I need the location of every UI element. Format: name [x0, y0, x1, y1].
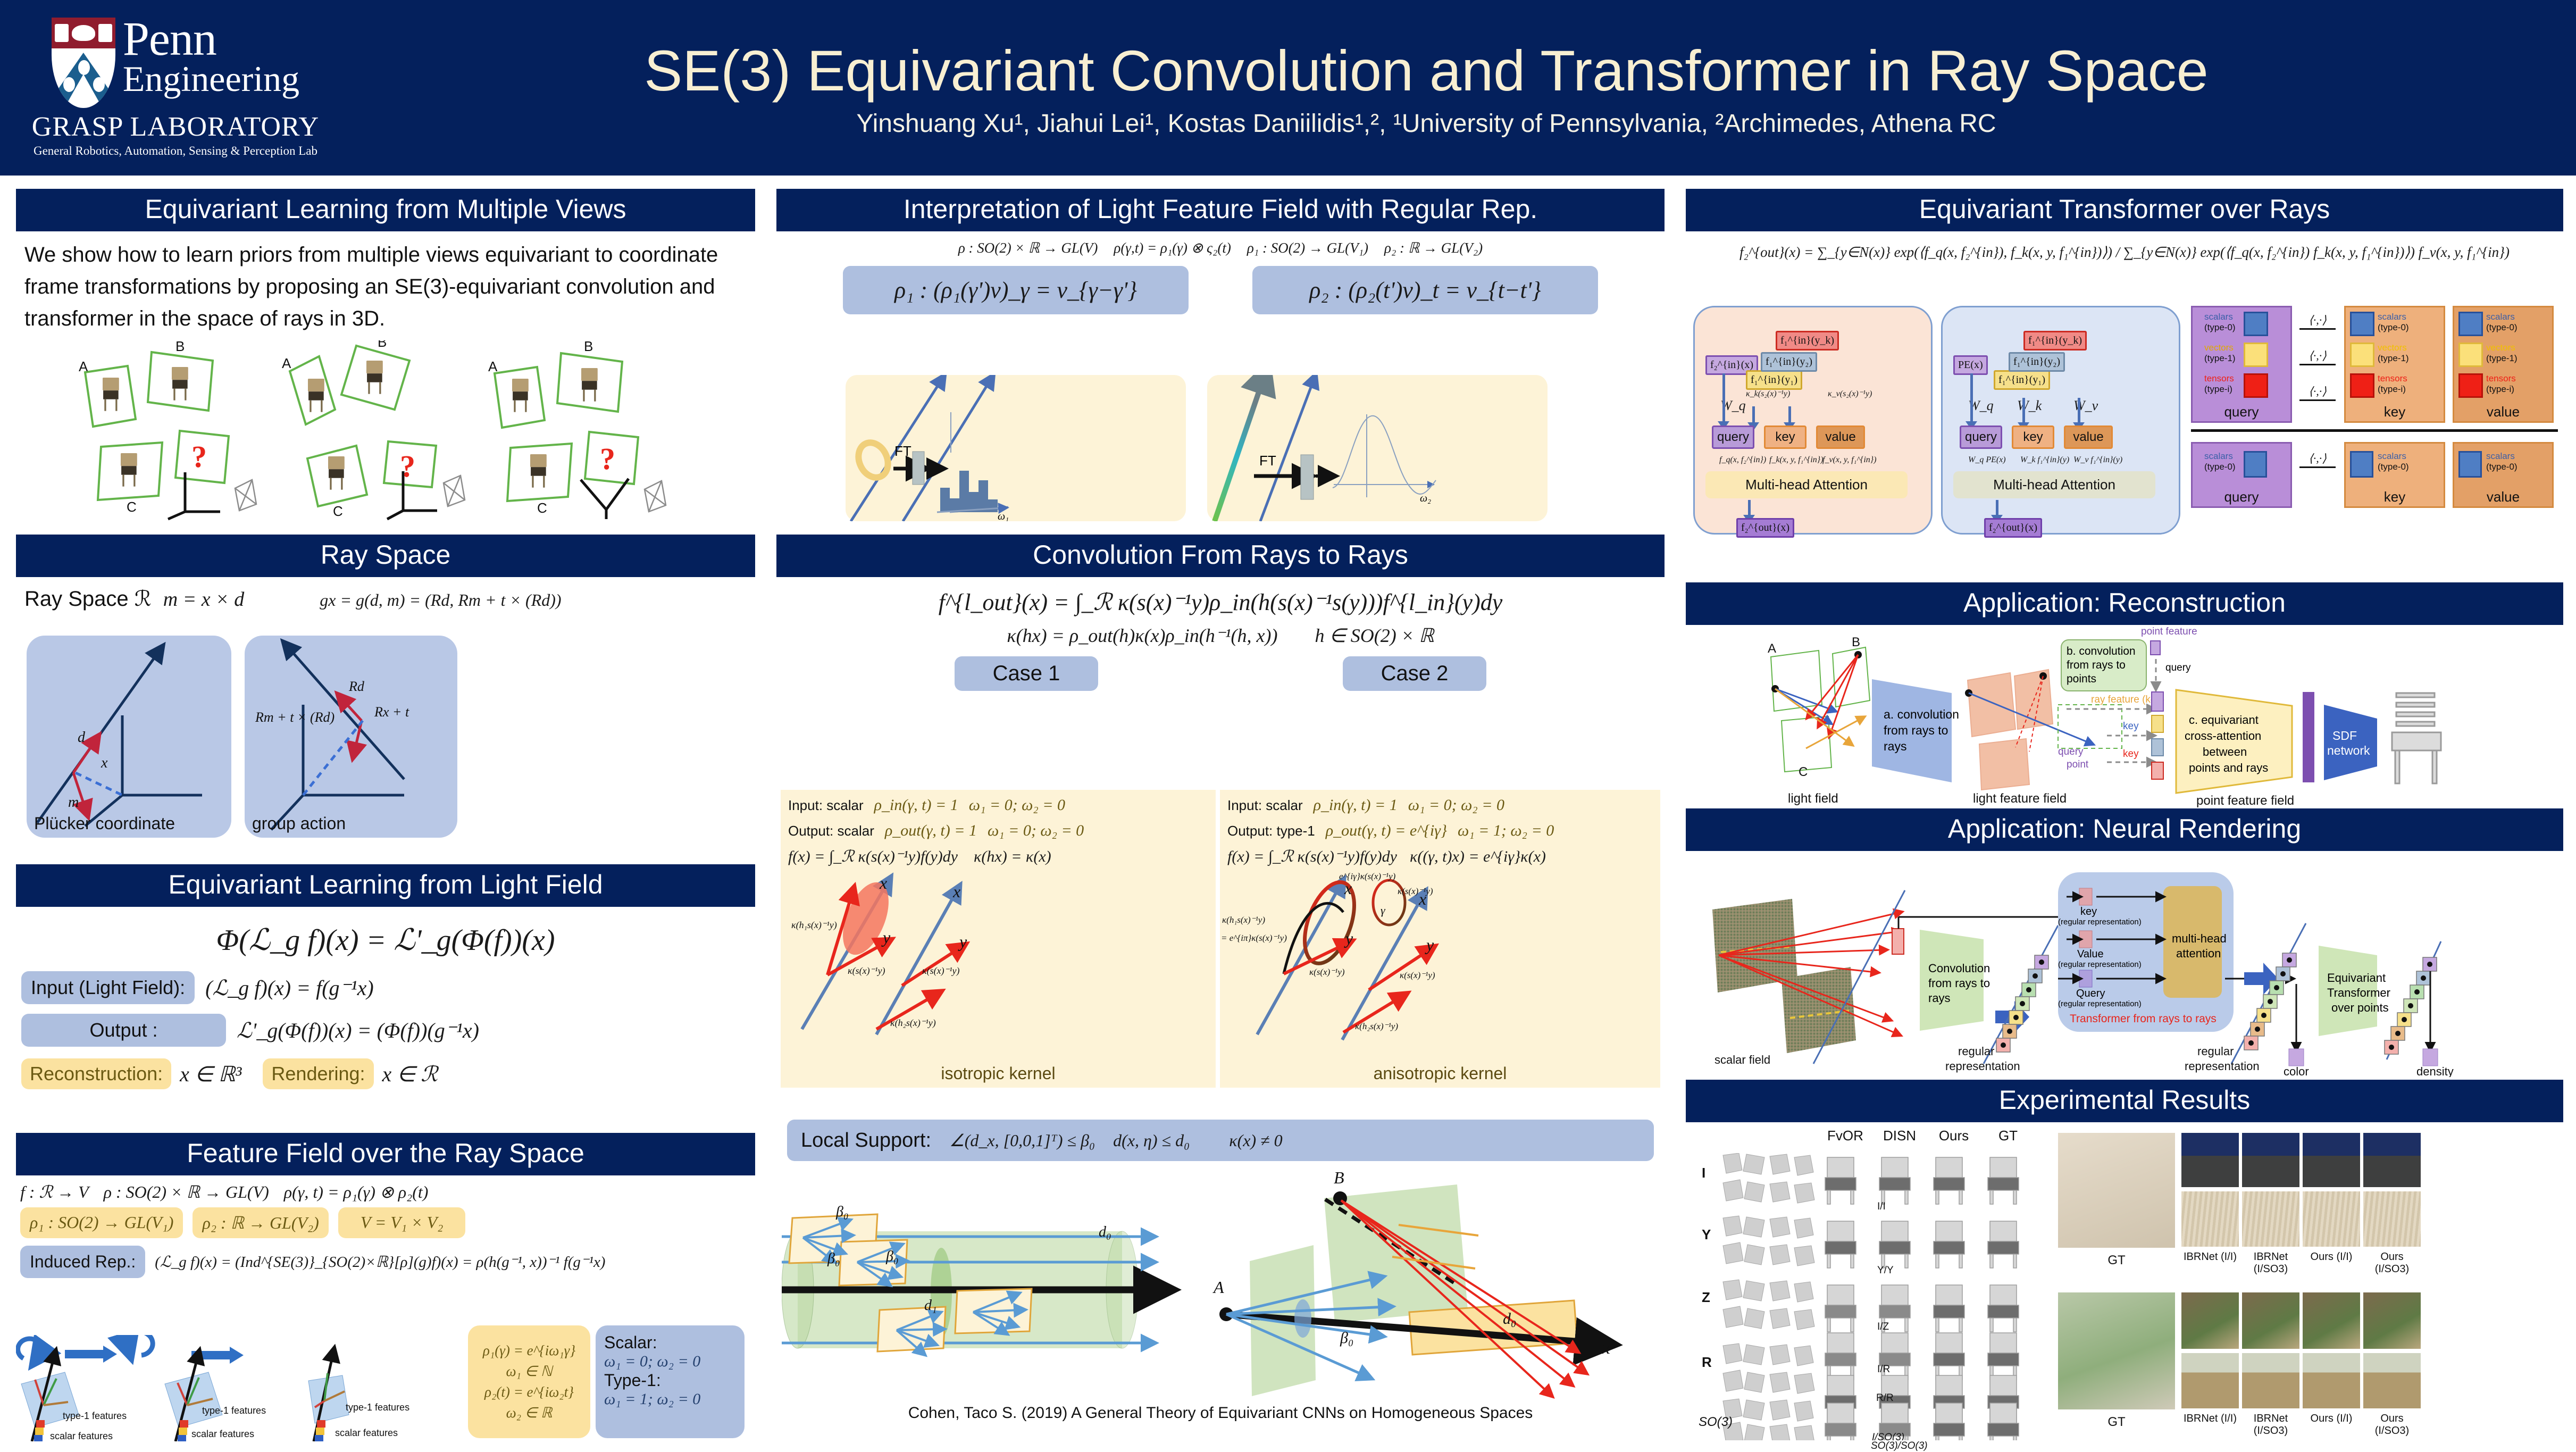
rendering-figure: Convolution from rays to rays multi-head…	[1686, 851, 2563, 1077]
panel-convolution-title: Convolution From Rays to Rays	[776, 535, 1665, 577]
render-gt-image	[2058, 1292, 2175, 1409]
interp-rho1-box: ρ₁ : (ρ₁(γ')v)_γ = v_{γ−γ'}	[843, 266, 1189, 314]
panel-experiments-title: Experimental Results	[1686, 1080, 2563, 1122]
panel-feature-field: Feature Field over the Ray Space f : ℛ →…	[16, 1133, 755, 1439]
type-panel-query: scalars (type-0) vectors (type-1) tensor…	[2191, 306, 2292, 423]
svg-text:(regular representation): (regular representation)	[2058, 999, 2142, 1008]
label-d0: d₀	[1503, 1310, 1516, 1328]
multi-head-attention: Multi-head Attention	[1705, 471, 1908, 498]
type-panel-value: scalars (type-0) vectors (type-1) tensor…	[2453, 306, 2554, 423]
svg-text:from rays to: from rays to	[2067, 659, 2126, 671]
svg-text:attention: attention	[2176, 947, 2221, 960]
type-panel-key: scalars (type-0) vectors (type-1) tensor…	[2344, 306, 2445, 423]
row-header-Y: Y	[1702, 1226, 1711, 1243]
case1-eq2: κ(hx) = κ(x)	[974, 848, 1051, 866]
light-field-rendering-label: Rendering:	[263, 1058, 373, 1089]
label-y: y	[1344, 929, 1353, 948]
label-scalar-features: scalar features	[50, 1431, 113, 1441]
type-col-query: query	[2193, 489, 2290, 505]
swatch-vectors	[2244, 343, 2268, 367]
case1-input-label: Input: scalar	[788, 797, 864, 814]
caption-density: density	[2416, 1065, 2454, 1077]
row-type-scalars: (type-0)	[2486, 462, 2518, 472]
node-f1-in-y2: f₁^{in}(y₂)	[2009, 352, 2065, 372]
rep-omega2: ω₂ ∈ ℝ	[506, 1405, 553, 1421]
type-panel-query: scalars (type-0) query	[2191, 442, 2292, 508]
panel-light-field: Equivariant Learning from Light Field Φ(…	[16, 864, 755, 1109]
label-scalar-features: scalar features	[191, 1429, 254, 1439]
type-panels-divider	[2191, 429, 2558, 432]
type-col-value: value	[2454, 404, 2552, 420]
plucker-coordinate-figure: d x m Plücker coordinate	[27, 636, 231, 838]
case2-input-rho: ρ_in(γ, t) = 1	[1314, 796, 1398, 814]
type-type1-values: ω₁ = 1; ω₂ = 0	[604, 1390, 736, 1408]
case2-output-rho: ρ_out(γ, t) = e^{iγ}	[1326, 822, 1447, 840]
row-type-scalars: (type-0)	[2378, 462, 2409, 472]
render-thumb	[2303, 1292, 2360, 1349]
logo-penn-text: Penn	[123, 18, 299, 62]
transformer-box-label: Transformer from rays to rays	[2070, 1013, 2217, 1025]
ray-space-moment-formula: m = x × d	[163, 588, 245, 611]
token-value-label: Value	[2077, 948, 2104, 960]
render-gt-label: GT	[2058, 1253, 2175, 1268]
type-col-value: value	[2454, 489, 2552, 505]
light-field-output-label: Output :	[21, 1014, 226, 1047]
label-k-s: κ(s(x)⁻¹y)	[922, 965, 960, 977]
label-type1-features: type-1 features	[202, 1405, 266, 1416]
label-eipi-k: = e^{iπ}κ(s(x)⁻¹y)	[1221, 933, 1287, 943]
type-panel-value: scalars (type-0) value	[2453, 442, 2554, 508]
transformer-formula: f₂^{out}(x) = ∑_{y∈N(x)} exp(⟨f_q(x, f₂^…	[1686, 231, 2563, 262]
ft-label: FT	[1259, 453, 1276, 469]
render-thumb	[2303, 1133, 2360, 1187]
row-tag-I-SO3: I/SO(3)	[1872, 1432, 1904, 1440]
label-k-s: κ(s(x)⁻¹y)	[848, 965, 885, 977]
panel-multiple-views-title: Equivariant Learning from Multiple Views	[16, 189, 755, 231]
render-gt-label: GT	[2058, 1415, 2175, 1430]
swatch-scalars	[2244, 451, 2267, 478]
logo-grasp-subtitle: General Robotics, Automation, Sensing & …	[34, 144, 317, 158]
render-thumb	[2242, 1133, 2299, 1187]
svg-text:network: network	[2327, 744, 2370, 757]
feature-field-formula-0: f : ℛ → V	[20, 1182, 89, 1202]
scene-label-A: A	[1768, 641, 1776, 656]
row-label-scalars: scalars	[2378, 451, 2406, 462]
node-f1-in-y2: f₁^{in}(y₂)	[1761, 352, 1817, 372]
poster-title: SE(3) Equivariant Convolution and Transf…	[351, 37, 2502, 104]
render-thumb	[2181, 1191, 2239, 1247]
label-kappa-k: κ_k(s₂(x)⁻¹y)	[1746, 388, 1790, 399]
conv-case2-box: Input: scalar ρ_in(γ, t) = 1 ω₁ = 0; ω₂ …	[1220, 790, 1660, 1088]
label-k-h2: κ(h₂s(x)⁻¹y)	[1355, 1021, 1398, 1031]
label-key: key	[2123, 721, 2139, 732]
render-col-label: IBRNet (I/I)	[2181, 1413, 2239, 1437]
edge-fv: f_v(x, y, f₁^{in})	[1822, 455, 1877, 465]
row-tag-I-R: I/R	[1877, 1364, 1890, 1375]
panel-experiments: Experimental Results FvOR DISN Ours GT I…	[1686, 1080, 2563, 1441]
view-label-b: B	[175, 340, 185, 354]
label-x: x	[1160, 1279, 1169, 1300]
panel-ray-space: Ray Space Ray Space ℛ m = x × d gx = g(d…	[16, 535, 755, 843]
view-unknown-marker: ?	[191, 439, 207, 474]
label-k-s: κ(s(x)⁻¹y)	[1309, 967, 1345, 977]
label-k-h1: κ(h₁s(x)⁻¹y)	[1222, 915, 1265, 925]
edge-wq-pe: W_q PE(x)	[1968, 455, 2006, 465]
label-d0: d₀	[1099, 1224, 1111, 1240]
svg-text:(regular representation): (regular representation)	[2058, 917, 2142, 927]
swatch-scalars	[2458, 451, 2482, 478]
label-x: x	[952, 882, 960, 901]
poster-authors: Yinshuang Xu¹, Jiahui Lei¹, Kostas Danii…	[351, 109, 2502, 138]
qkv-key: key	[1764, 425, 1806, 449]
svg-text:representation: representation	[1945, 1059, 2020, 1073]
row-label-scalars: scalars	[2204, 312, 2233, 322]
interp-rho2-box: ρ₂ : (ρ₂(t')v)_t = v_{t−t'}	[1252, 266, 1598, 314]
case1-output-rho: ρ_out(γ, t) = 1	[885, 822, 977, 840]
label-kappa-v: κ_v(s₂(x)⁻¹y)	[1828, 388, 1872, 399]
col-header-ours: Ours	[1933, 1128, 1975, 1144]
view-label-c: C	[127, 499, 137, 515]
case2-eq1: f(x) = ∫_ℛ κ(s(x)⁻¹y)f(y)dy	[1227, 847, 1397, 866]
panel-interpretation-title: Interpretation of Light Feature Field wi…	[776, 189, 1665, 231]
label-type1-features: type-1 features	[346, 1402, 409, 1413]
row-tag-I-Z: I/Z	[1877, 1321, 1889, 1332]
swatch-tensors	[2244, 373, 2268, 398]
render-thumb	[2242, 1292, 2299, 1349]
rep-omega1: ω₁ ∈ ℕ	[506, 1363, 552, 1380]
sdf-label: SDF	[2332, 729, 2357, 742]
render-thumb	[2242, 1353, 2299, 1408]
view-label-c: C	[537, 500, 547, 516]
col-header-disn: DISN	[1878, 1128, 1921, 1144]
stage-b-label: b. convolution	[2067, 645, 2136, 657]
edge-fk: f_k(x, y, f₁^{in})	[1769, 455, 1824, 465]
render-col-label: Ours (I/I)	[2303, 1251, 2360, 1275]
rendering-conv-label: Convolution	[1928, 962, 1990, 975]
node-f2-out: f₂^{out}(x)	[1984, 518, 2042, 538]
label-k-s: κ(s(x)⁻¹y)	[1398, 886, 1433, 896]
label-key: key	[2123, 748, 2139, 760]
row-label-vectors: vectors	[2486, 343, 2515, 353]
view-unknown-marker: ?	[600, 441, 615, 476]
label-point: point	[2067, 759, 2089, 770]
qkv-query: query	[1960, 425, 2002, 449]
feature-field-figure: type-1 features scalar features type-1 f…	[16, 1335, 463, 1441]
caption-point-feature-field: point feature field	[2196, 794, 2294, 808]
svg-text:points: points	[2067, 673, 2096, 685]
rendering-equiv-transformer-label: Equivariant	[2327, 971, 2386, 984]
row-header-SO3: SO(3)	[1699, 1415, 1733, 1430]
panel-transformer: Equivariant Transformer over Rays f₂^{ou…	[1686, 189, 2563, 543]
case1-input-omega: ω₁ = 0; ω₂ = 0	[969, 796, 1065, 814]
light-field-reconstruction-label: Reconstruction:	[21, 1058, 171, 1089]
local-support-label: Local Support:	[801, 1129, 931, 1152]
case1-output-omega: ω₁ = 0; ω₂ = 0	[988, 822, 1084, 840]
row-label-vectors: vectors	[2378, 343, 2407, 353]
row-type-scalars: (type-0)	[2378, 322, 2409, 333]
row-header-I: I	[1702, 1165, 1705, 1181]
light-field-rendering-formula: x ∈ ℛ	[382, 1062, 438, 1087]
label-d: d	[78, 729, 86, 746]
caption-scalar-field: scalar field	[1714, 1053, 1770, 1066]
edge-wv-f1: W_v f₁^{in}(y)	[2073, 455, 2122, 465]
panel-rendering: Application: Neural Rendering	[1686, 808, 2563, 1074]
row-header-Z: Z	[1702, 1289, 1710, 1306]
swatch-tensors	[2458, 373, 2483, 398]
light-field-output-formula: ℒ'_g(Φ(f))(x) = (Φ(f))(g⁻¹x)	[237, 1018, 479, 1043]
label-beta0: β₀	[1340, 1329, 1353, 1347]
label-x: x	[1344, 879, 1352, 898]
panel-feature-field-title: Feature Field over the Ray Space	[16, 1133, 755, 1175]
svg-text:between: between	[2203, 745, 2247, 758]
label-y: y	[1425, 935, 1434, 954]
row-label-scalars: scalars	[2204, 451, 2233, 462]
qkv-value: value	[1816, 425, 1865, 449]
row-label-scalars: scalars	[2378, 312, 2406, 322]
scene-label-C: C	[1799, 765, 1808, 779]
swatch-scalars	[2350, 451, 2373, 478]
label-beta0: β₀	[827, 1250, 840, 1267]
row-type-tensors: (type-i)	[2204, 384, 2232, 395]
render-col-label: IBRNet (I/I)	[2181, 1251, 2239, 1275]
render-thumb	[2363, 1191, 2421, 1247]
label-gamma: γ	[1381, 904, 1386, 917]
case2-output-omega: ω₁ = 1; ω₂ = 0	[1458, 822, 1554, 840]
panel-convolution: Convolution From Rays to Rays f^{l_out}(…	[776, 535, 1665, 1106]
local-support-cond2: d(x, η) ≤ d₀	[1113, 1131, 1190, 1150]
label-x: x	[1601, 1337, 1610, 1358]
svg-text:representation: representation	[2185, 1059, 2260, 1073]
view-label-c: C	[333, 503, 343, 519]
node-f1-in-y1: f₁^{in}(y₁)	[1746, 370, 1802, 390]
panel-reconstruction: Application: Reconstruction a. convoluti…	[1686, 582, 2563, 806]
col-header-gt: GT	[1987, 1128, 2029, 1144]
feature-field-formula-1: ρ : SO(2) × ℝ → GL(V)	[104, 1182, 269, 1202]
token-query-label: Query	[2076, 988, 2105, 999]
type-panels-full: scalars (type-0) vectors (type-1) tensor…	[2191, 306, 2558, 423]
type-panel-key: scalars (type-0) key	[2344, 442, 2445, 508]
ray-space-group-formula: gx = g(d, m) = (Rd, Rm + t × (Rd))	[320, 590, 561, 610]
conv-kernel-formula: κ(hx) = ρ_out(h)κ(x)ρ_in(h⁻¹(h, x))	[1007, 624, 1277, 647]
case2-eq2: κ((γ, t)x) = e^{iγ}κ(x)	[1410, 848, 1546, 866]
render-thumb	[2363, 1292, 2421, 1349]
render-col-label: IBRNet (I/SO3)	[2242, 1413, 2299, 1437]
panel-transformer-title: Equivariant Transformer over Rays	[1686, 189, 2563, 231]
feature-field-formula-2: ρ(γ, t) = ρ₁(γ) ⊗ ρ₂(t)	[284, 1182, 429, 1202]
label-query: query	[2058, 746, 2084, 757]
view-label-b: B	[378, 340, 387, 350]
local-support-cond1: ∠(d_x, [0,0,1]ᵀ) ≤ β₀	[949, 1130, 1095, 1150]
svg-text:Transformer: Transformer	[2327, 986, 2390, 999]
label-point-feature: point feature	[2141, 626, 2197, 637]
swatch-tensors	[2350, 373, 2374, 398]
edge-wk-f1: W_k f₁^{in}(y)	[2020, 455, 2069, 465]
swatch-scalars	[2350, 312, 2374, 336]
node-f1-in-yk: f₁^{in}(y_k)	[1776, 331, 1839, 351]
light-field-main-formula: Φ(ℒ_g f)(x) = ℒ'_g(Φ(f))(x)	[16, 907, 755, 957]
row-type-vectors: (type-1)	[2204, 353, 2236, 364]
row-type-tensors: (type-i)	[2486, 384, 2514, 395]
svg-text:from rays to: from rays to	[1884, 723, 1948, 737]
logo-grasp-text: GRASP LABORATORY	[32, 111, 319, 143]
caption-regular-1: regular	[1958, 1045, 1994, 1058]
render-thumb	[2242, 1191, 2299, 1247]
penn-engineering-logo: Penn Engineering GRASP LABORATORY Genera…	[0, 0, 351, 176]
conv-case1-box: Input: scalar ρ_in(γ, t) = 1 ω₁ = 0; ω₂ …	[781, 790, 1216, 1088]
multiple-views-figure: ABC ABC ABC ? ? ?	[16, 340, 755, 521]
panel-interpretation: Interpretation of Light Feature Field wi…	[776, 189, 1665, 519]
token-key-label: key	[2080, 906, 2097, 917]
label-wv: W_v	[2073, 398, 2098, 414]
case2-input-omega: ω₁ = 0; ω₂ = 0	[1408, 796, 1504, 814]
label-y: y	[881, 928, 891, 947]
panel-ray-space-title: Ray Space	[16, 535, 755, 577]
stage-c-label: c. equivariant	[2189, 713, 2259, 727]
swatch-scalars	[2244, 312, 2268, 336]
type-scalar-values: ω₁ = 0; ω₂ = 0	[604, 1353, 736, 1371]
panel-rendering-title: Application: Neural Rendering	[1686, 808, 2563, 851]
label-wk: W_k	[2017, 398, 2042, 414]
anisotropic-kernel-figure: e^{iγ}κ(s(x)⁻¹y) κ(h₁s(x)⁻¹y) = e^{iπ}κ(…	[1220, 870, 1660, 1061]
reconstruction-figure: a. convolution from rays to rays b. conv…	[1686, 625, 2563, 808]
row-type-scalars: (type-0)	[2204, 462, 2236, 472]
interp-formula-1: ρ(γ,t) = ρ₁(γ) ⊗ ς₂(t)	[1114, 240, 1231, 256]
render-block-2: GT IBRNet (	[2058, 1292, 2553, 1447]
col-header-fvor: FvOR	[1824, 1128, 1867, 1144]
case2-output-label: Output: type-1	[1227, 823, 1315, 839]
row-header-R: R	[1702, 1354, 1712, 1371]
qkv-query: query	[1712, 425, 1754, 449]
case2-input-label: Input: scalar	[1227, 797, 1303, 814]
view-label-a: A	[488, 358, 498, 374]
recon-results-grid: FvOR DISN Ours GT I Y Z R SO(3)	[1702, 1128, 2042, 1444]
logo-engineering-text: Engineering	[123, 62, 299, 96]
feature-field-v-box: V = V₁ × V₂	[338, 1207, 466, 1238]
inner-product-symbol: ⟨·,·⟩	[2296, 313, 2339, 327]
label-x: x	[879, 873, 887, 892]
axis-label-omega1: ω₁	[998, 511, 1009, 521]
type-col-query: query	[2193, 404, 2290, 420]
row-type-tensors: (type-i)	[2378, 384, 2406, 395]
interp-formula-3: ρ₂ : ℝ → GL(V₂)	[1384, 240, 1483, 256]
label-m: m	[68, 794, 79, 811]
conv-case2-tag: Case 2	[1343, 656, 1486, 691]
light-field-input-label: Input (Light Field):	[21, 971, 195, 1004]
transformer-left-diagram: f₂^{in}(x) f₁^{in}(y₁) f₁^{in}(y₂) f₁^{i…	[1693, 306, 1933, 535]
scene-label-B: B	[1852, 635, 1860, 649]
render-thumb	[2303, 1353, 2360, 1408]
label-Rd: Rd	[348, 679, 365, 694]
row-type-vectors: (type-1)	[2378, 353, 2409, 364]
rep-rho1: ρ₁(γ) = e^{iω₁γ}	[483, 1342, 575, 1359]
conv-main-formula: f^{l_out}(x) = ∫_ℛ κ(s(x)⁻¹y)ρ_in(h(s(x)…	[776, 577, 1665, 616]
label-scalar-features: scalar features	[335, 1428, 398, 1438]
svg-text:cross-attention: cross-attention	[2185, 729, 2261, 742]
light-field-reconstruction-formula: x ∈ ℝ³	[180, 1062, 241, 1087]
transformer-right-diagram: PE(x) f₁^{in}(y₁) f₁^{in}(y₂) f₁^{in}(y_…	[1941, 306, 2180, 535]
local-support-cond3: κ(x) ≠ 0	[1229, 1131, 1282, 1150]
node-f1-in-yk: f₁^{in}(y_k)	[2023, 331, 2087, 351]
svg-text:points and rays: points and rays	[2189, 761, 2268, 774]
type-col-key: key	[2346, 404, 2444, 420]
row-tag-I-I: I/I	[1877, 1201, 1886, 1212]
case1-output-label: Output: scalar	[788, 823, 874, 839]
conv-h-formula: h ∈ SO(2) × ℝ	[1315, 624, 1434, 647]
inner-product-group: ⟨·,·⟩ ⟨·,·⟩ ⟨·,·⟩	[2296, 313, 2339, 401]
row-label-tensors: tensors	[2204, 373, 2234, 384]
poster-header: Penn Engineering GRASP LABORATORY Genera…	[0, 0, 2576, 176]
render-col-label: Ours (I/I)	[2303, 1413, 2360, 1437]
render-thumb	[2181, 1353, 2239, 1408]
panel-reconstruction-title: Application: Reconstruction	[1686, 582, 2563, 625]
label-x: x	[101, 755, 108, 771]
qkv-key: key	[2012, 425, 2054, 449]
render-thumb	[2181, 1292, 2239, 1349]
render-thumb	[2303, 1191, 2360, 1247]
row-tag-SO3-SO3: SO(3)/SO(3)	[1871, 1440, 1928, 1452]
rep-rho2: ρ₂(t) = e^{iω₂t}	[484, 1384, 574, 1400]
label-A: A	[1212, 1278, 1224, 1297]
view-label-b: B	[584, 340, 593, 354]
row-label-vectors: vectors	[2204, 343, 2234, 353]
label-beta0: β₀	[885, 1248, 899, 1265]
interp-figure-r: FT ω₂	[1207, 375, 1548, 521]
feature-field-rep-box: ρ₁(γ) = e^{iω₁γ} ω₁ ∈ ℕ ρ₂(t) = e^{iω₂t}…	[468, 1325, 590, 1438]
swatch-scalars	[2458, 312, 2483, 336]
penn-shield-icon	[52, 18, 115, 108]
row-type-scalars: (type-0)	[2204, 322, 2236, 333]
view-label-a: A	[282, 355, 291, 371]
caption-color: color	[2284, 1065, 2309, 1077]
ft-label: FT	[894, 443, 911, 459]
citation: Cohen, Taco S. (2019) A General Theory o…	[782, 1404, 1659, 1422]
render-thumb	[2181, 1133, 2239, 1187]
svg-text:from rays to: from rays to	[1928, 977, 1990, 990]
group-action-figure: Rd Rx + t Rm + t × (Rd) group action	[245, 636, 457, 838]
caption-light-field: light field	[1788, 791, 1838, 806]
panel-multiple-views: Equivariant Learning from Multiple Views…	[16, 189, 755, 519]
label-Rm-t-Rd: Rm + t × (Rd)	[255, 710, 334, 725]
ray-space-heading-left: Ray Space ℛ	[24, 587, 152, 611]
label-k-h1: κ(h₁s(x)⁻¹y)	[791, 920, 837, 931]
feature-field-rho2-box: ρ₂ : ℝ → GL(V₂)	[193, 1207, 328, 1238]
row-label-tensors: tensors	[2378, 373, 2407, 384]
case1-eq1: f(x) = ∫_ℛ κ(s(x)⁻¹y)f(y)dy	[788, 847, 958, 866]
node-pe-x: PE(x)	[1953, 355, 1988, 375]
inner-product-group: ⟨·,·⟩	[2296, 452, 2339, 468]
feature-field-induced-formula: (ℒ_g f)(x) = (Ind^{SE(3)}_{SO(2)×ℝ}[ρ](g…	[155, 1253, 605, 1271]
label-d1: d₁	[924, 1297, 937, 1314]
group-action-caption: group action	[252, 814, 346, 833]
feature-field-rho1-box: ρ₁ : SO(2) → GL(V₁)	[20, 1207, 183, 1238]
interp-formula-2: ρ₁ : SO(2) → GL(V₁)	[1247, 240, 1368, 256]
render-block-1: GT IBRNet (	[2058, 1133, 2553, 1287]
local-support-bar: Local Support: ∠(d_x, [0,0,1]ᵀ) ≤ β₀ d(x…	[787, 1120, 1654, 1161]
view-unknown-marker: ?	[400, 449, 415, 483]
qkv-value: value	[2064, 425, 2113, 449]
view-label-a: A	[79, 358, 88, 374]
inner-product-symbol: ⟨·,·⟩	[2296, 452, 2339, 465]
inner-product-symbol: ⟨·,·⟩	[2296, 349, 2339, 363]
render-thumb	[2363, 1133, 2421, 1187]
caption-regular-2: regular	[2197, 1045, 2234, 1058]
interp-figure-so2: FT ω₁	[846, 375, 1186, 521]
case2-caption: anisotropic kernel	[1220, 1064, 1660, 1083]
swatch-vectors	[2458, 343, 2483, 367]
local-support-figure: β₀ β₀ β₀ d₀ d₁ x	[782, 1167, 1659, 1401]
panel-light-field-title: Equivariant Learning from Light Field	[16, 864, 755, 907]
conv-case1-tag: Case 1	[955, 656, 1098, 691]
